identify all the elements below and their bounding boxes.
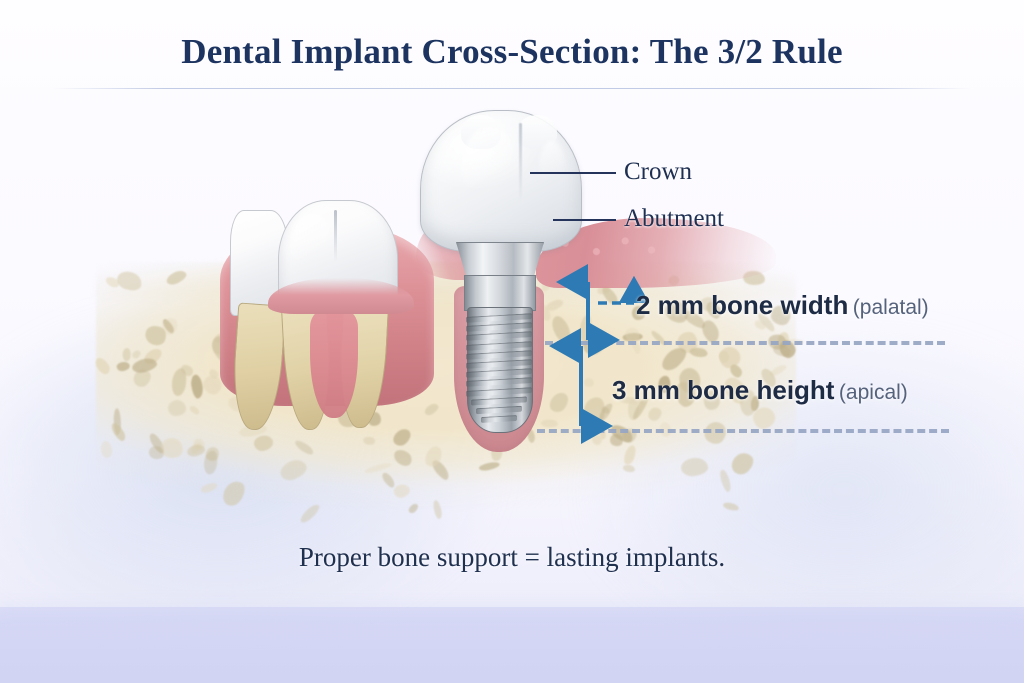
measurement-bone-width: 2 mm bone width (palatal) bbox=[636, 290, 929, 321]
crown-highlight-secondary bbox=[539, 141, 565, 193]
premolar-root bbox=[230, 302, 287, 431]
dashed-line-crestal bbox=[545, 341, 945, 345]
bone-height-qualifier: (apical) bbox=[839, 381, 908, 404]
bone-width-qualifier: (palatal) bbox=[853, 296, 929, 319]
implant-crown bbox=[420, 110, 582, 252]
illustration-canvas: Dental Implant Cross-Section: The 3/2 Ru… bbox=[0, 0, 1024, 683]
implant-screw bbox=[467, 307, 531, 437]
bone-pore bbox=[122, 349, 130, 362]
implant-abutment bbox=[456, 242, 544, 278]
crown-leader-line bbox=[530, 172, 616, 174]
label-crown: Crown bbox=[624, 158, 692, 186]
bottom-edge-blur bbox=[0, 595, 1024, 621]
dashed-line-apical bbox=[537, 429, 949, 433]
measurement-bone-height: 3 mm bone height (apical) bbox=[612, 375, 908, 406]
crown-central-groove bbox=[519, 123, 522, 201]
caption: Proper bone support = lasting implants. bbox=[0, 542, 1024, 573]
title-divider bbox=[52, 88, 972, 89]
molar-cusp-groove bbox=[334, 210, 337, 262]
bottom-band bbox=[0, 607, 1024, 683]
abutment-leader-line bbox=[553, 219, 616, 221]
bone-height-value: 3 mm bone height bbox=[612, 375, 834, 405]
label-abutment: Abutment bbox=[624, 205, 724, 233]
bone-height-arrow bbox=[568, 340, 594, 440]
molar-gloss bbox=[290, 214, 330, 272]
crown-highlight bbox=[461, 127, 513, 199]
page-title: Dental Implant Cross-Section: The 3/2 Ru… bbox=[0, 32, 1024, 72]
bone-width-value: 2 mm bone width bbox=[636, 290, 848, 320]
implant-abutment-body bbox=[464, 275, 536, 311]
